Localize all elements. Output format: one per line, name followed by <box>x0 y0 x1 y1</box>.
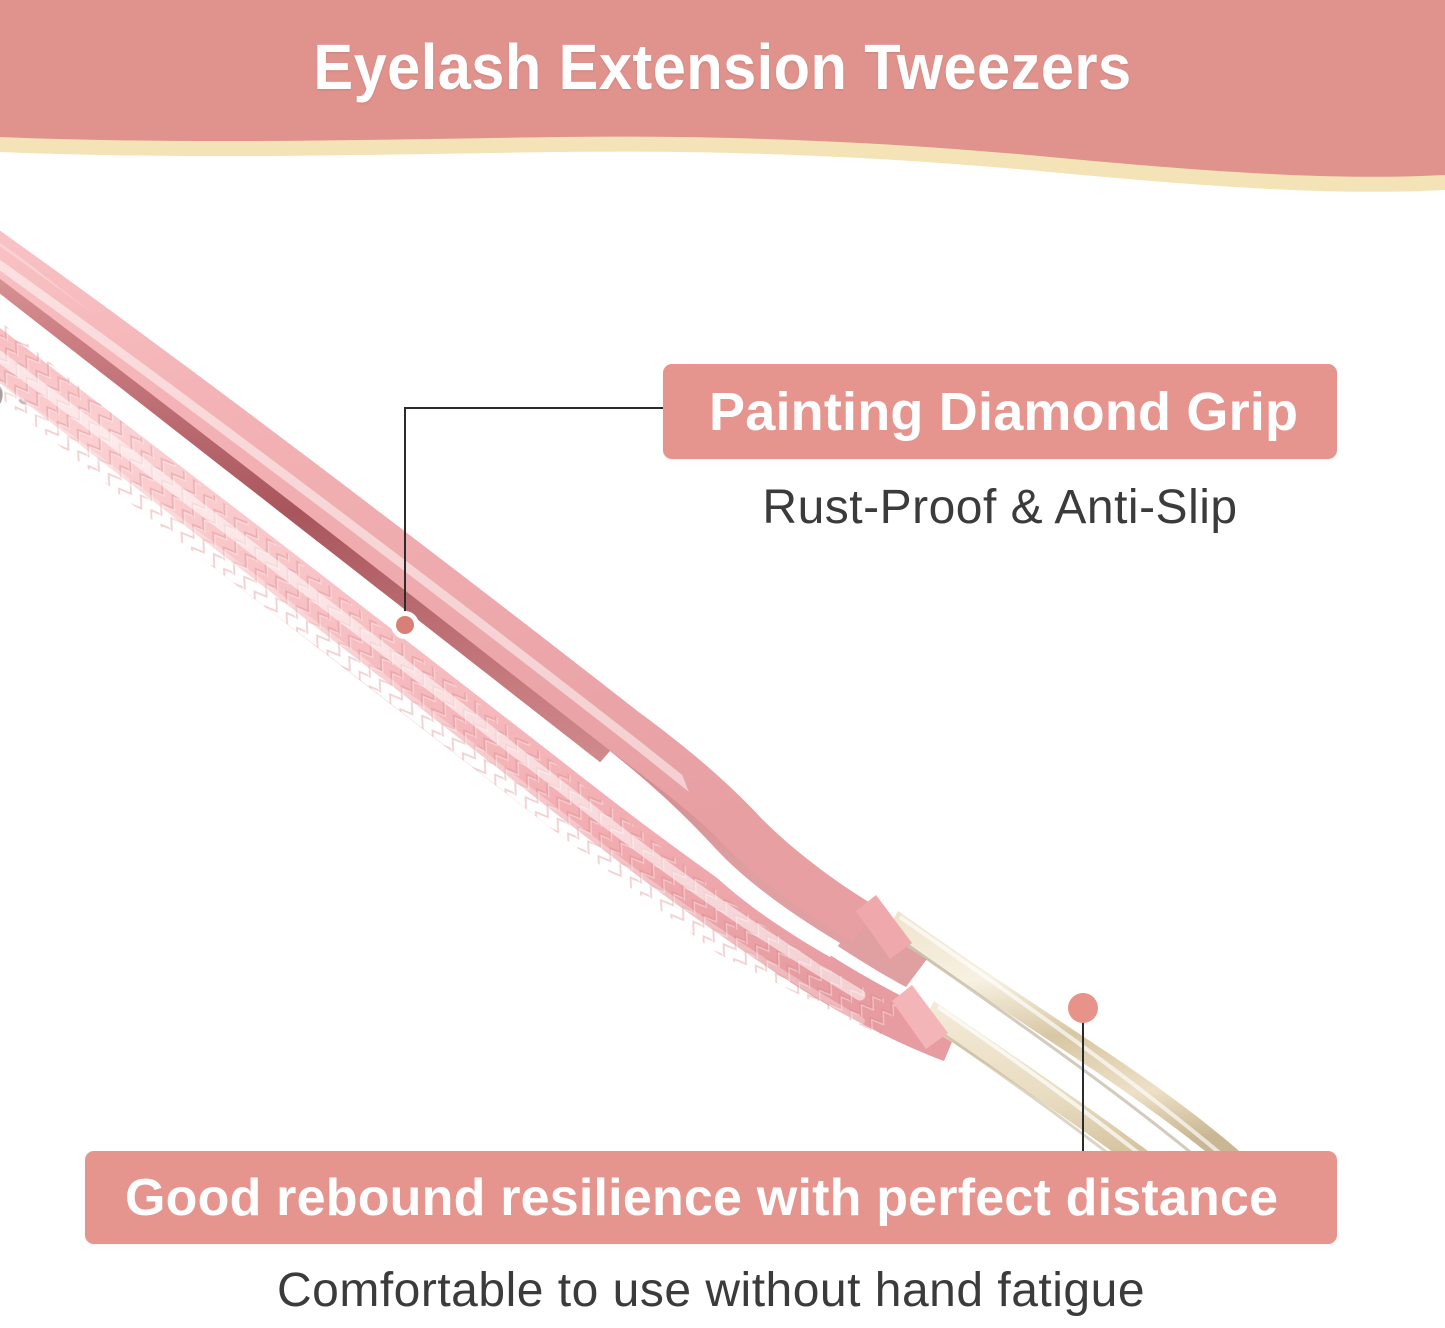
callout-label-rebound: Good rebound resilience with perfect dis… <box>85 1151 1337 1244</box>
header-banner: Eyelash Extension Tweezers <box>0 0 1445 200</box>
page-title: Eyelash Extension Tweezers <box>51 28 1395 106</box>
tweezer-upper-shell <box>0 195 880 941</box>
tweezers-illustration: Ms.Queen <box>0 195 1445 1195</box>
callout-sublabel-rebound: Comfortable to use without hand fatigue <box>85 1262 1337 1320</box>
callout-sublabel-grip: Rust-Proof & Anti-Slip <box>663 478 1337 538</box>
product-image: Ms.Queen <box>0 195 1445 1195</box>
callout-label-grip: Painting Diamond Grip <box>663 364 1337 459</box>
product-infographic: Eyelash Extension Tweezers <box>0 0 1445 1328</box>
callout-marker-rebound[interactable] <box>1068 993 1098 1023</box>
callout-marker-grip[interactable] <box>391 611 419 639</box>
